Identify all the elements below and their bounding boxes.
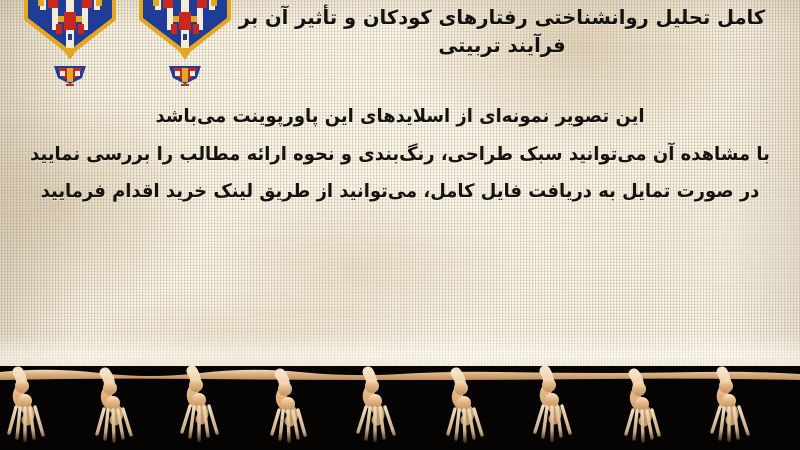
presentation-slide: کامل تحلیل روانشناختی رفتارهای کودکان و … bbox=[0, 0, 800, 450]
slide-title-line-2: فرآیند تربیتی bbox=[226, 32, 778, 60]
carpet-fringe-tassels-icon bbox=[0, 366, 800, 450]
slide-body-text: این تصویر نمونه‌ای از اسلایدهای این پاور… bbox=[0, 108, 800, 202]
body-line-purchase-link: در صورت تمایل به دریافت فایل کامل، می‌تو… bbox=[12, 183, 788, 202]
body-line-design-review: با مشاهده آن می‌توانید سبک طراحی، رنگ‌بن… bbox=[12, 146, 788, 165]
carpet-fringe-band bbox=[0, 366, 800, 450]
persian-carpet-medallion-right-icon bbox=[133, 0, 237, 90]
persian-carpet-medallion-left-icon bbox=[18, 0, 122, 90]
slide-title: کامل تحلیل روانشناختی رفتارهای کودکان و … bbox=[226, 4, 778, 60]
body-line-sample-notice: این تصویر نمونه‌ای از اسلایدهای این پاور… bbox=[12, 108, 788, 127]
slide-title-line-1: کامل تحلیل روانشناختی رفتارهای کودکان و … bbox=[226, 4, 778, 32]
